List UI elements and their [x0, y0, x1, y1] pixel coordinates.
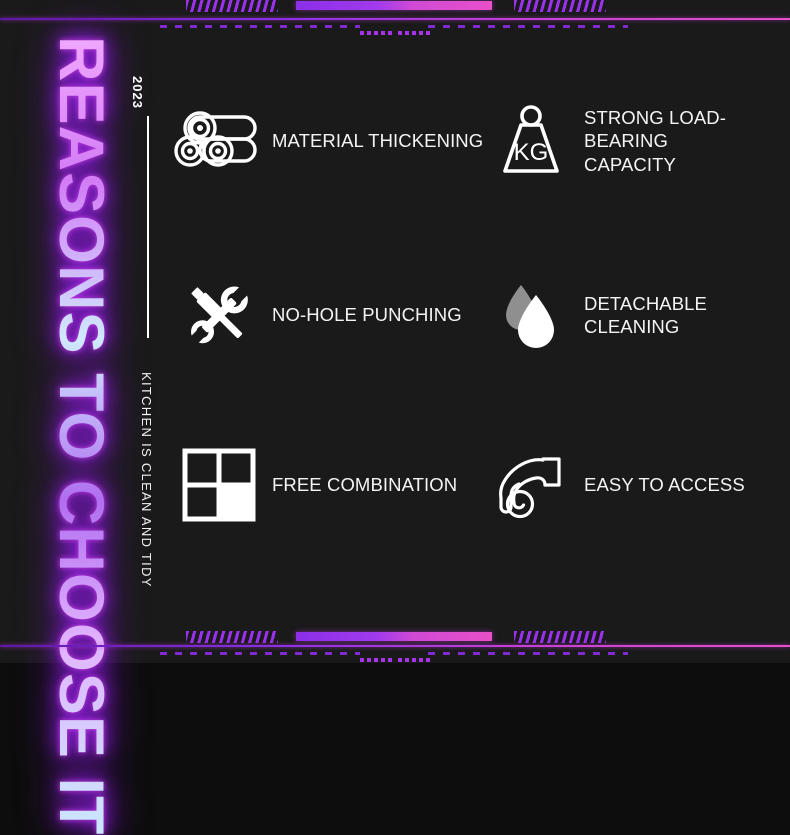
page-title: REASONS TO CHOOSE IT: [26, 36, 134, 622]
vertical-divider: [147, 116, 149, 338]
kg-icon-text: KG: [514, 139, 549, 166]
feature-label: FREE COMBINATION: [272, 473, 457, 496]
four-square-grid-icon: [178, 444, 260, 526]
decor-dash-row-right: [428, 25, 628, 28]
top-decoration-bar: [0, 0, 790, 36]
decor-slant-right: [514, 631, 606, 643]
decor-slant-left: [186, 631, 278, 643]
feature-strong-load-bearing: KG STRONG LOAD-BEARING CAPACITY: [490, 100, 778, 182]
feature-label: DETACHABLE CLEANING: [584, 292, 778, 338]
hand-grab-icon: [490, 444, 572, 526]
decor-slant-left: [186, 0, 278, 12]
stacked-tubes-icon: [178, 100, 260, 182]
feature-label: MATERIAL THICKENING: [272, 129, 483, 152]
feature-label: EASY TO ACCESS: [584, 473, 745, 496]
decor-dot-row-right: [398, 31, 432, 35]
decor-dash-row-right: [428, 652, 628, 655]
feature-material-thickening: MATERIAL THICKENING: [178, 100, 483, 182]
decor-neon-line-top: [0, 18, 790, 20]
subcaption-text: KITCHEN IS CLEAN AND TIDY: [139, 372, 154, 588]
feature-free-combination: FREE COMBINATION: [178, 444, 457, 526]
headline-text: REASONS TO CHOOSE IT: [50, 36, 110, 835]
decor-dot-row-left: [360, 31, 392, 35]
decor-neon-line-bottom: [0, 645, 790, 647]
bottom-decoration-bar: [0, 627, 790, 663]
feature-label: STRONG LOAD-BEARING CAPACITY: [584, 106, 778, 175]
decor-dash-row-left: [160, 652, 360, 655]
feature-grid: MATERIAL THICKENING KG STRONG LOAD-BEARI…: [178, 86, 778, 586]
year-label: 2023: [130, 76, 145, 109]
decor-gradient-bar-top: [296, 1, 492, 10]
feature-easy-to-access: EASY TO ACCESS: [490, 444, 745, 526]
feature-detachable-cleaning: DETACHABLE CLEANING: [490, 274, 778, 356]
feature-label: NO-HOLE PUNCHING: [272, 303, 462, 326]
decor-dot-row-left: [360, 658, 392, 662]
decor-gradient-bar-bottom: [296, 632, 492, 641]
decor-dot-row-right: [398, 658, 432, 662]
wrench-screwdriver-icon: [178, 274, 260, 356]
decor-dash-row-left: [160, 25, 360, 28]
decor-slant-right: [514, 0, 606, 12]
kg-weight-icon: KG: [490, 100, 572, 182]
water-drops-icon: [490, 274, 572, 356]
poster-root: { "headline": { "text": "REASONS TO CHOO…: [0, 0, 790, 663]
feature-no-hole-punching: NO-HOLE PUNCHING: [178, 274, 462, 356]
